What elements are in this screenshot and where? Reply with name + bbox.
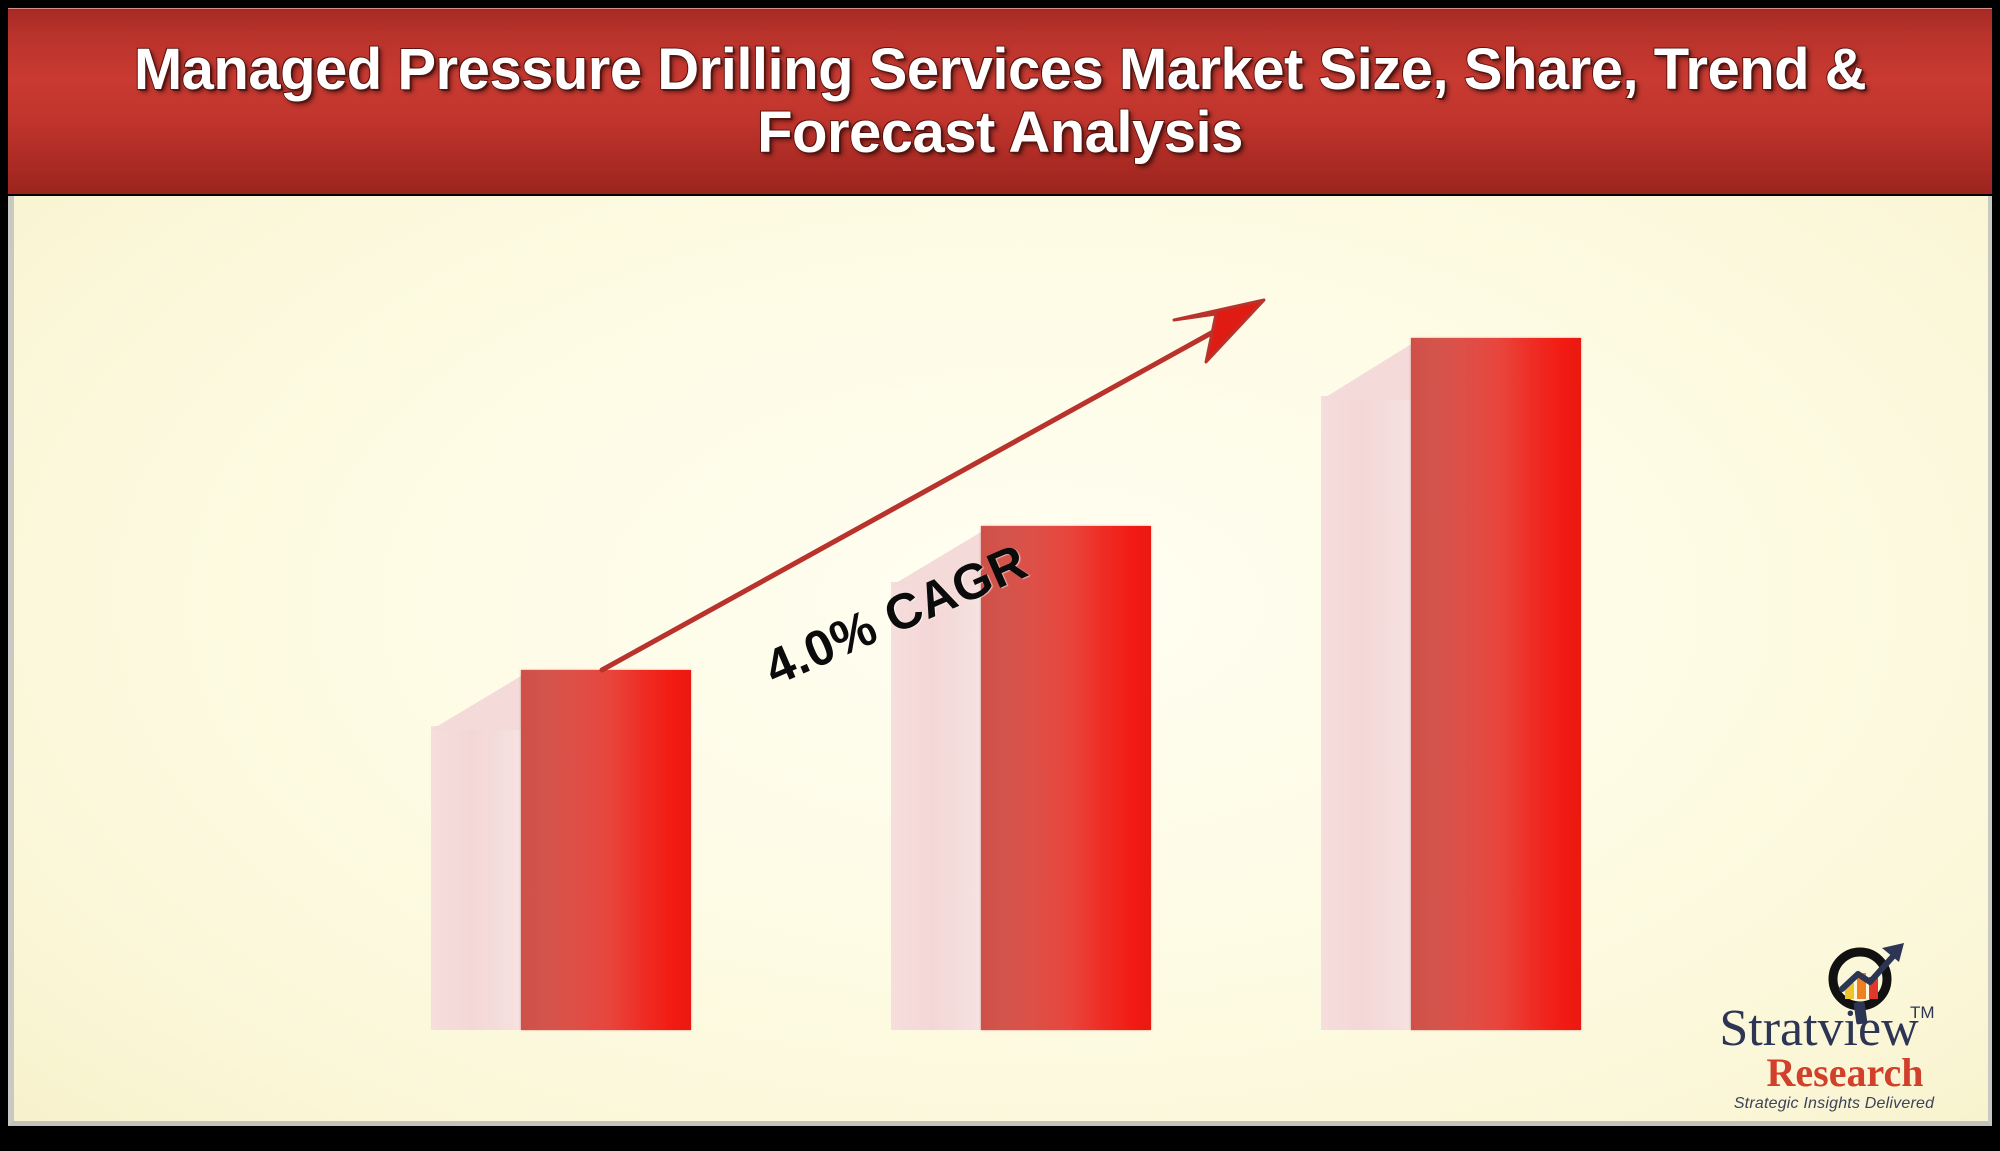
page-title: Managed Pressure Drilling Services Marke…: [50, 39, 1950, 164]
bar-2022-front-face: [981, 526, 1151, 1030]
brand-logo: Stratview TM Research Strategic Insights…: [1674, 925, 1964, 1115]
bar-2020-top-face: [431, 670, 531, 730]
header-banner: Managed Pressure Drilling Services Marke…: [8, 8, 1992, 194]
logo-brand-subname: Research: [1726, 1053, 1964, 1093]
logo-trademark: TM: [1910, 1003, 1935, 1023]
bar-2022-side-face: [891, 582, 991, 1030]
logo-tagline: Strategic Insights Delivered: [1704, 1095, 1964, 1113]
poster-root: Managed Pressure Drilling Services Marke…: [0, 0, 2000, 1151]
bar-2025-side-face: [1321, 396, 1421, 1030]
bar-2020-side-face: [431, 726, 531, 1030]
bar-2020-front-face: [521, 670, 691, 1030]
bar-2025-top-face: [1321, 338, 1421, 400]
bar-2025-front-face: [1411, 338, 1581, 1030]
chart-canvas: 4.0% CAGR 2020 2022 2025 Stratview TM Re: [8, 196, 1992, 1126]
